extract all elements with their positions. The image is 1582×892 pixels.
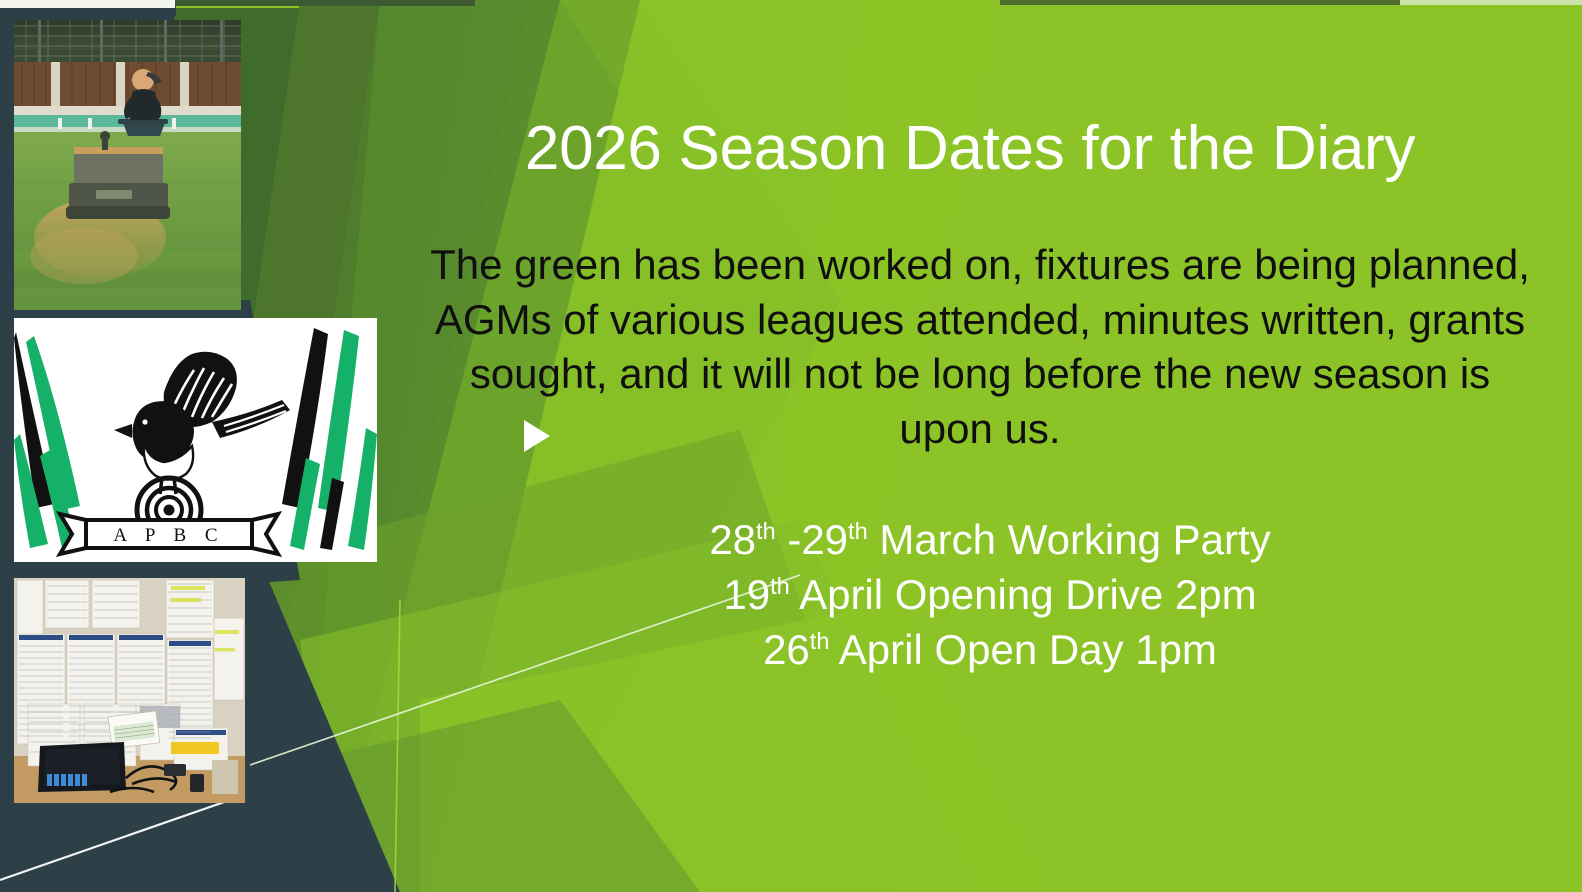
date-line-3: 26th April Open Day 1pm xyxy=(560,622,1420,677)
ordinal-suffix: th xyxy=(810,628,830,654)
ordinal-suffix: th xyxy=(848,518,868,544)
page-title: 2026 Season Dates for the Diary xyxy=(440,118,1500,180)
logo-banner-text: A P B C xyxy=(113,525,224,546)
season-dates-list: 28th -29th March Working Party 19th Apri… xyxy=(560,512,1420,677)
apbc-club-logo: A P B C xyxy=(14,318,377,562)
ordinal-suffix: th xyxy=(756,518,776,544)
body-paragraph: The green has been worked on, fixtures a… xyxy=(420,238,1540,456)
date-line-1: 28th -29th March Working Party xyxy=(560,512,1420,567)
fixtures-noticeboard-photo xyxy=(14,578,245,803)
slide-canvas: A P B C xyxy=(0,0,1582,892)
green-topdressing-photo xyxy=(14,20,241,310)
ordinal-suffix: th xyxy=(770,573,790,599)
date-line-2: 19th April Opening Drive 2pm xyxy=(560,567,1420,622)
